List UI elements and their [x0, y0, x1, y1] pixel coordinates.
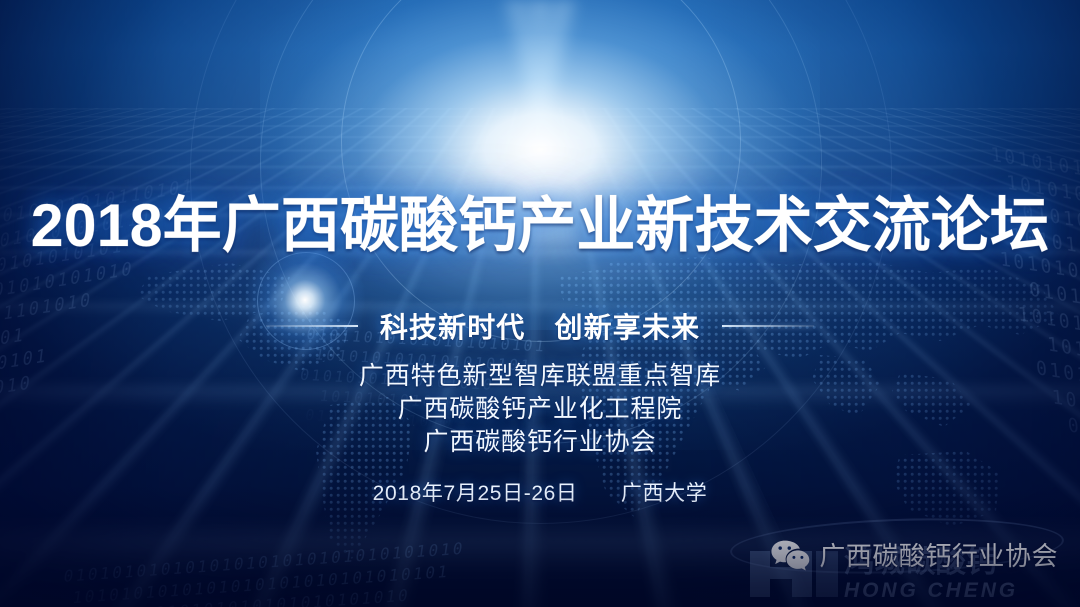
subtitle-rule-right [722, 325, 814, 327]
organizer-line: 广西碳酸钙行业协会 [0, 426, 1080, 459]
organizer-line: 广西特色新型智库联盟重点智库 [0, 360, 1080, 393]
organizer-line: 广西碳酸钙产业化工程院 [0, 393, 1080, 426]
conference-poster: 01010101010101010110101 0101010101010101… [0, 0, 1080, 607]
poster-title: 2018年广西碳酸钙产业新技术交流论坛 [11, 196, 1069, 256]
poster-subtitle-row: 科技新时代 创新享未来 [0, 306, 1080, 346]
bottom-fade [0, 487, 1080, 607]
poster-subtitle: 科技新时代 创新享未来 [380, 306, 700, 346]
subtitle-rule-left [266, 325, 358, 327]
organizer-list: 广西特色新型智库联盟重点智库 广西碳酸钙产业化工程院 广西碳酸钙行业协会 [0, 360, 1080, 459]
